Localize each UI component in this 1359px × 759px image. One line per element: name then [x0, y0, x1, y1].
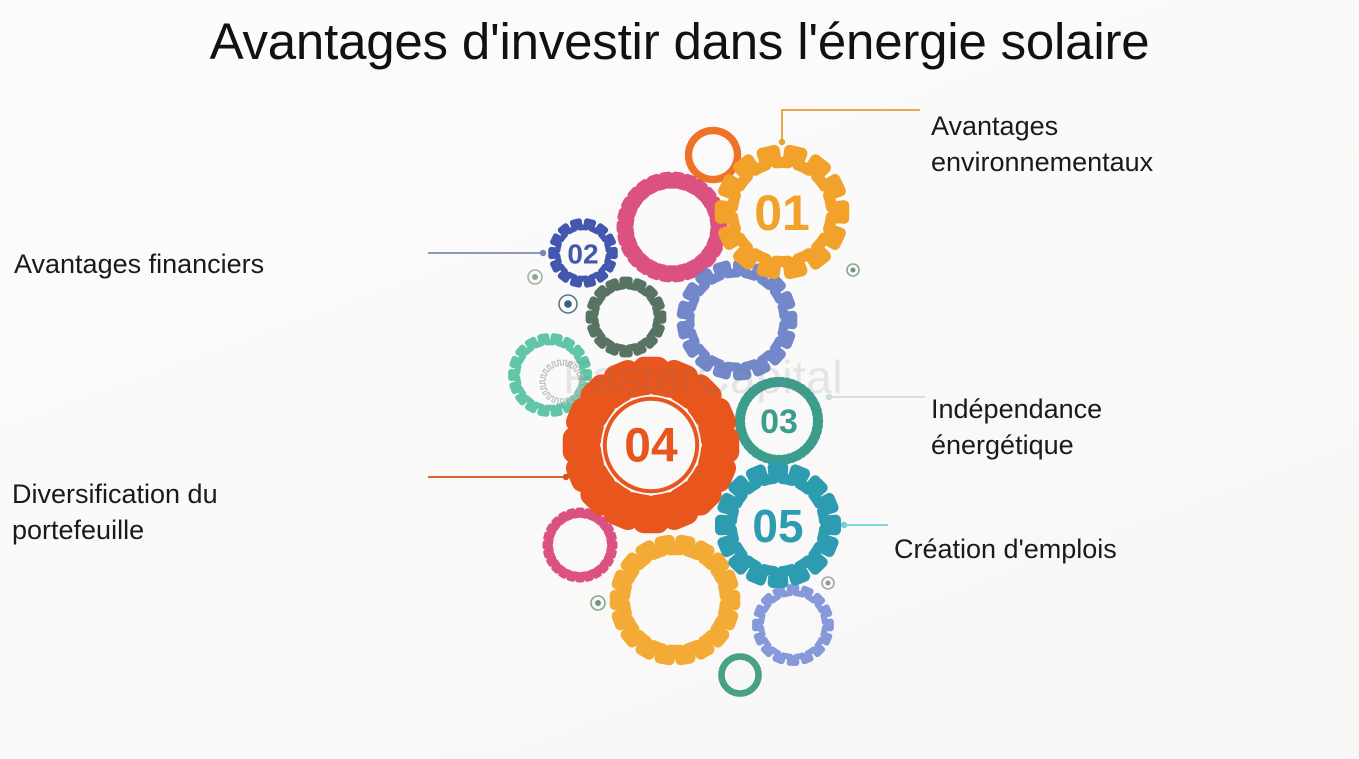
label-avantages-environnementaux: Avantages environnementaux: [931, 108, 1153, 180]
connector-endpoint-03: [826, 394, 832, 400]
label-avantages-financiers: Avantages financiers: [14, 246, 264, 282]
label-independance-energetique: Indépendance énergétique: [931, 391, 1102, 463]
label-creation-emplois: Création d'emplois: [894, 531, 1117, 567]
decor-gear-green-tiny-bottom: [719, 654, 761, 696]
connector-01: [782, 110, 920, 142]
decor-gear-outline-tiny-gear: [540, 360, 584, 404]
decor-gear-amber-large-lower: [615, 540, 735, 659]
gear-number-02: 02: [567, 239, 598, 270]
gear-node-04[interactable]: 04: [574, 368, 727, 521]
gear-node-01[interactable]: 01: [720, 150, 843, 273]
connector-endpoint-02: [540, 250, 546, 256]
connector-endpoint-05: [841, 522, 847, 528]
infographic-canvas: Avantages d'investir dans l'énergie sola…: [0, 0, 1359, 759]
label-diversification-portefeuille: Diversification du portefeuille: [12, 476, 218, 548]
gear-node-03[interactable]: 03: [737, 379, 821, 463]
decor-gear-periwinkle-lower: [755, 587, 831, 663]
decor-gear-top-orange-fine: [686, 128, 740, 182]
decor-gear-pink-large: [621, 176, 723, 278]
gear-number-03: 03: [760, 403, 798, 441]
gear-node-02[interactable]: 02: [551, 221, 615, 285]
decor-gear-dark-green-mid: [589, 280, 663, 354]
gear-diagram: 0102030405: [0, 0, 1359, 759]
gear-number-04: 04: [624, 420, 678, 473]
gear-number-01: 01: [754, 185, 810, 241]
decor-gear-periwinkle-large: [681, 264, 793, 376]
decor-dot-core-dot-left-filled: [564, 300, 572, 308]
gear-node-05[interactable]: 05: [720, 467, 836, 583]
decor-dot-core-dot-lower-left: [595, 600, 601, 606]
decor-dot-core-dot-left-upper: [532, 274, 538, 280]
decor-dot-core-dot-lower-right: [825, 580, 830, 585]
connector-endpoint-01: [779, 139, 785, 145]
decor-gear-pink-small-lower: [545, 510, 615, 580]
decor-dot-core-dot-right-upper: [850, 267, 855, 272]
gear-number-05: 05: [752, 500, 803, 552]
